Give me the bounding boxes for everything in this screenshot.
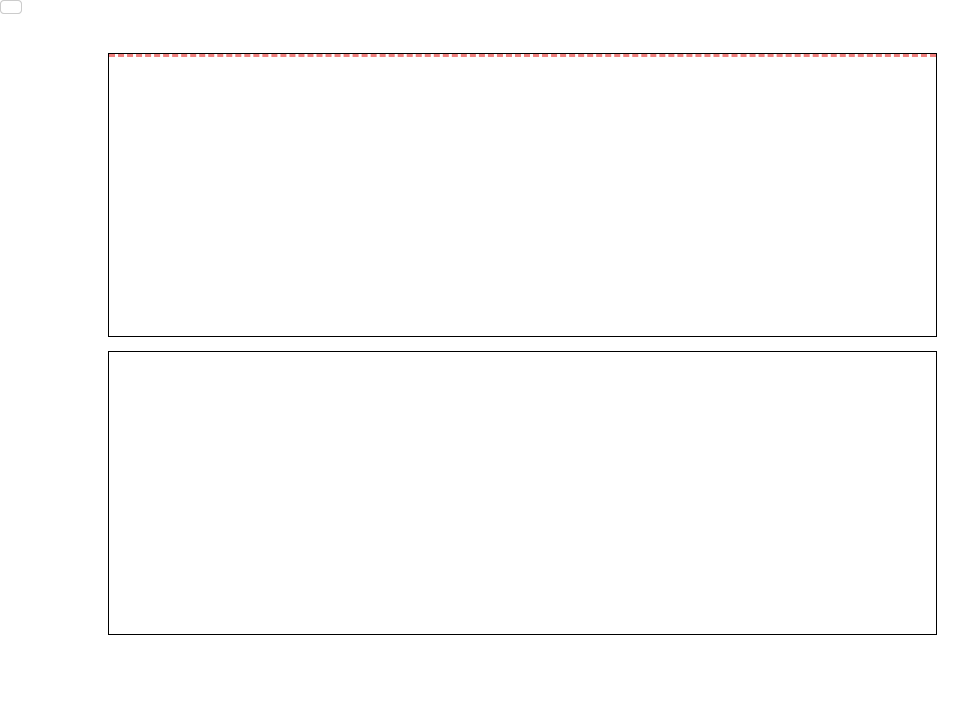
bottom-plot-legend <box>0 0 22 14</box>
bottom-plot-axes <box>108 351 937 635</box>
top-plot-axes <box>108 53 937 337</box>
figure-canvas <box>0 0 960 720</box>
threshold-line <box>109 54 936 57</box>
